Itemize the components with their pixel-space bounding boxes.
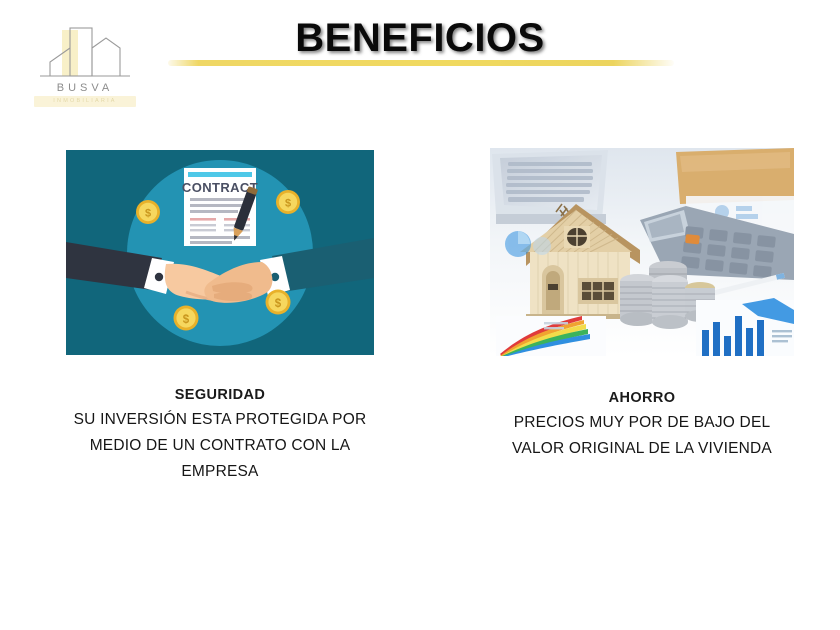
benefit-panel-seguridad: CONTRACT — [40, 150, 400, 485]
benefit-caption-seguridad: SEGURIDAD SU INVERSIÓN ESTA PROTEGIDA PO… — [40, 383, 400, 485]
benefit-body-line: SU INVERSIÓN ESTA PROTEGIDA POR — [40, 407, 400, 433]
benefit-body-line: VALOR ORIGINAL DE LA VIVIENDA — [462, 436, 822, 462]
svg-text:$: $ — [285, 198, 291, 210]
svg-text:$: $ — [145, 208, 151, 220]
benefit-body-line: PRECIOS MUY POR DE BAJO DEL — [462, 410, 822, 436]
benefit-heading: SEGURIDAD — [40, 383, 400, 407]
logo-tagline: INMOBILIARIA — [34, 96, 136, 107]
logo-wordmark: BUSVA — [26, 82, 144, 94]
page-title: BENEFICIOS — [0, 16, 840, 61]
handshake-contract-illustration: CONTRACT — [66, 150, 374, 355]
wooden-house-coins-calculator-photo — [490, 148, 794, 356]
svg-text:$: $ — [275, 298, 282, 310]
svg-text:$: $ — [183, 314, 190, 326]
title-underline-accent — [168, 60, 674, 66]
benefit-body-line: MEDIO DE UN CONTRATO CON LA — [40, 433, 400, 459]
benefit-caption-ahorro: AHORRO PRECIOS MUY POR DE BAJO DEL VALOR… — [462, 386, 822, 462]
benefit-heading: AHORRO — [462, 386, 822, 410]
benefit-panel-ahorro: AHORRO PRECIOS MUY POR DE BAJO DEL VALOR… — [462, 148, 822, 462]
benefit-body-line: EMPRESA — [40, 459, 400, 485]
